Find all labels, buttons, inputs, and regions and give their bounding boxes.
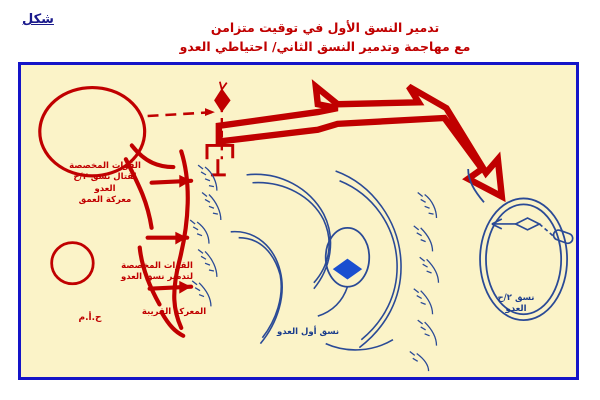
ham-circle-icon bbox=[52, 243, 94, 284]
tactical-map-frame: القوات المخصصة لقتال نسق ٢/ح العدو معركة… bbox=[18, 62, 579, 380]
boundary-marker-icon bbox=[215, 82, 230, 111]
friendly-attack-arrows-icon bbox=[126, 145, 191, 335]
unit-rectangle-icon bbox=[207, 145, 233, 174]
enemy-first-echelon-unit-icon bbox=[318, 228, 369, 316]
figure-label: شكل bbox=[22, 12, 54, 27]
diagram-title: تدمير النسق الأول في توقيت متزامن مع مها… bbox=[150, 18, 500, 57]
tactical-map-svg bbox=[21, 65, 576, 377]
enemy-counter-attack-arrow-icon bbox=[492, 218, 574, 245]
title-line-1: تدمير النسق الأول في توقيت متزامن bbox=[150, 18, 500, 37]
dashed-advance-axis-icon bbox=[148, 92, 222, 159]
main-attack-arrow-icon bbox=[219, 87, 502, 197]
enemy-defence-arcs-icon bbox=[231, 171, 401, 350]
title-line-2: مع مهاجمة وتدمير النسق الثاني/ احتياطي ا… bbox=[150, 37, 500, 56]
enemy-second-echelon-unit-icon bbox=[468, 169, 567, 320]
